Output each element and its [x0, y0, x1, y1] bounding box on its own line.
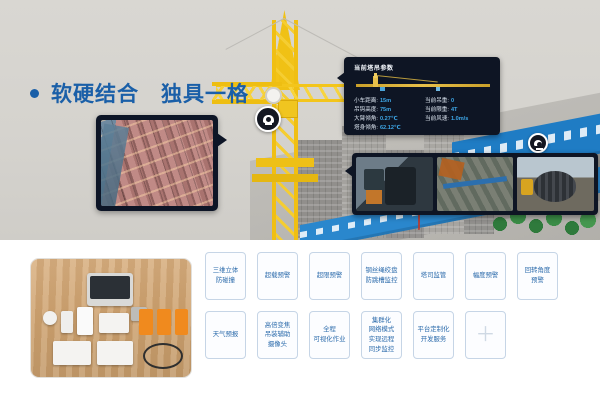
feature-tag[interactable]: 三维立体 防碰撞: [205, 252, 246, 300]
crane-mast-lower: [268, 128, 302, 240]
param-label: 吊钩高度:: [354, 105, 378, 113]
device-bullet-camera: [61, 311, 73, 333]
parameter-grid: 小车距离: 15m 当前吊重: 0 吊钩高度: 75m 当前限重: 4T 大臂倾…: [354, 96, 492, 131]
slide-heading: 软硬结合 独具一格: [30, 78, 249, 108]
param-item: 吊钩高度: 75m: [354, 105, 421, 113]
param-item: 当前吊重: 0: [425, 96, 492, 104]
param-value: 15m: [380, 98, 391, 104]
feature-tag[interactable]: 回转角度 预警: [517, 252, 558, 300]
device-sensor-orange: [139, 309, 153, 335]
param-value: 4T: [451, 107, 458, 113]
feature-tag[interactable]: 超载预警: [257, 252, 298, 300]
feature-tag[interactable]: 天气预报: [205, 311, 246, 359]
mini-crane-diagram: [356, 75, 490, 93]
feature-tag[interactable]: 塔司监管: [413, 252, 454, 300]
device-cable-coil: [143, 343, 183, 369]
feature-tag[interactable]: 超限预警: [309, 252, 350, 300]
device-control-box: [99, 313, 129, 333]
aerial-photo-image: [101, 120, 213, 206]
device-monitor: [87, 273, 133, 306]
param-value: 0.27℃: [380, 116, 398, 122]
feature-tag[interactable]: 全程 可视化作业: [309, 311, 350, 359]
camera-glyph: [263, 115, 274, 123]
device-control-box: [97, 341, 133, 365]
param-item: 塔身倾角: 62.12℃: [354, 123, 421, 131]
feature-tag[interactable]: 平台定制化 开发服务: [413, 311, 454, 359]
param-label: 当前吊重:: [425, 96, 449, 104]
hardware-device-kit-photo: [30, 258, 192, 378]
device-sensor-orange: [157, 309, 171, 335]
param-value: 75m: [380, 107, 391, 113]
param-value: 62.12℃: [380, 125, 401, 131]
param-value: 0: [451, 98, 454, 104]
feature-tag-row: 三维立体 防碰撞 超载预警 超限预警 钢丝绳绞盘 防跳槽监控 塔司监管 幅度预警…: [205, 252, 585, 300]
camera-video-strip: [352, 153, 598, 215]
scene-illustration: 软硬结合 独具一格 当前塔吊参数 小车距离: 15m: [0, 0, 600, 240]
crane-cabin: [278, 100, 298, 118]
device-bullet-camera: [77, 307, 93, 335]
video-thumb-site-overhead[interactable]: [437, 157, 514, 211]
panel-title: 当前塔吊参数: [354, 63, 492, 72]
crane-platform: [252, 174, 318, 182]
page-title: 软硬结合 独具一格: [51, 78, 249, 108]
param-label: 当前风速:: [425, 114, 449, 122]
param-item: 大臂倾角: 0.27℃: [354, 114, 421, 122]
feature-tag[interactable]: 高倍变焦 吊装辅助 摄像头: [257, 311, 298, 359]
video-thumb-winch-drum[interactable]: [517, 157, 594, 211]
param-label: 小车距离:: [354, 96, 378, 104]
crane-platform: [256, 158, 314, 167]
device-sensor-orange: [175, 309, 188, 335]
feature-tag-grid: 三维立体 防碰撞 超载预警 超限预警 钢丝绳绞盘 防跳槽监控 塔司监管 幅度预警…: [205, 252, 585, 370]
param-label: 大臂倾角:: [354, 114, 378, 122]
param-item: 当前限重: 4T: [425, 105, 492, 113]
feature-tag[interactable]: 集群化 网络模式 实现远程 同步监控: [361, 311, 402, 359]
video-thumb-operator-cabin[interactable]: [356, 157, 433, 211]
feature-tag-row: 天气预报 高倍变焦 吊装辅助 摄像头 全程 可视化作业 集群化 网络模式 实现远…: [205, 311, 585, 359]
bottom-panel: 三维立体 防碰撞 超载预警 超限预警 钢丝绳绞盘 防跳槽监控 塔司监管 幅度预警…: [0, 240, 600, 400]
device-control-box: [53, 341, 91, 365]
bullet-dot-icon: [30, 89, 39, 98]
param-label: 塔身倾角:: [354, 123, 378, 131]
feature-tag[interactable]: 幅度预警: [465, 252, 506, 300]
param-item: 小车距离: 15m: [354, 96, 421, 104]
slide-root: 软硬结合 独具一格 当前塔吊参数 小车距离: 15m: [0, 0, 600, 400]
param-item: 当前风速: 1.0m/s: [425, 114, 492, 122]
camera-glyph: [534, 140, 542, 146]
camera-dot-icon[interactable]: [265, 87, 282, 104]
feature-tag[interactable]: 钢丝绳绞盘 防跳槽监控: [361, 252, 402, 300]
camera-icon[interactable]: [528, 133, 548, 153]
camera-icon[interactable]: [255, 106, 281, 132]
aerial-site-photo[interactable]: [96, 115, 218, 211]
param-value: 1.0m/s: [451, 116, 468, 122]
device-dome-camera: [43, 311, 57, 325]
add-more-tag-button[interactable]: ＋: [465, 311, 506, 359]
crane-parameter-panel: 当前塔吊参数 小车距离: 15m 当前吊重: 0 吊钩高度:: [344, 57, 500, 135]
param-label: 当前限重:: [425, 105, 449, 113]
